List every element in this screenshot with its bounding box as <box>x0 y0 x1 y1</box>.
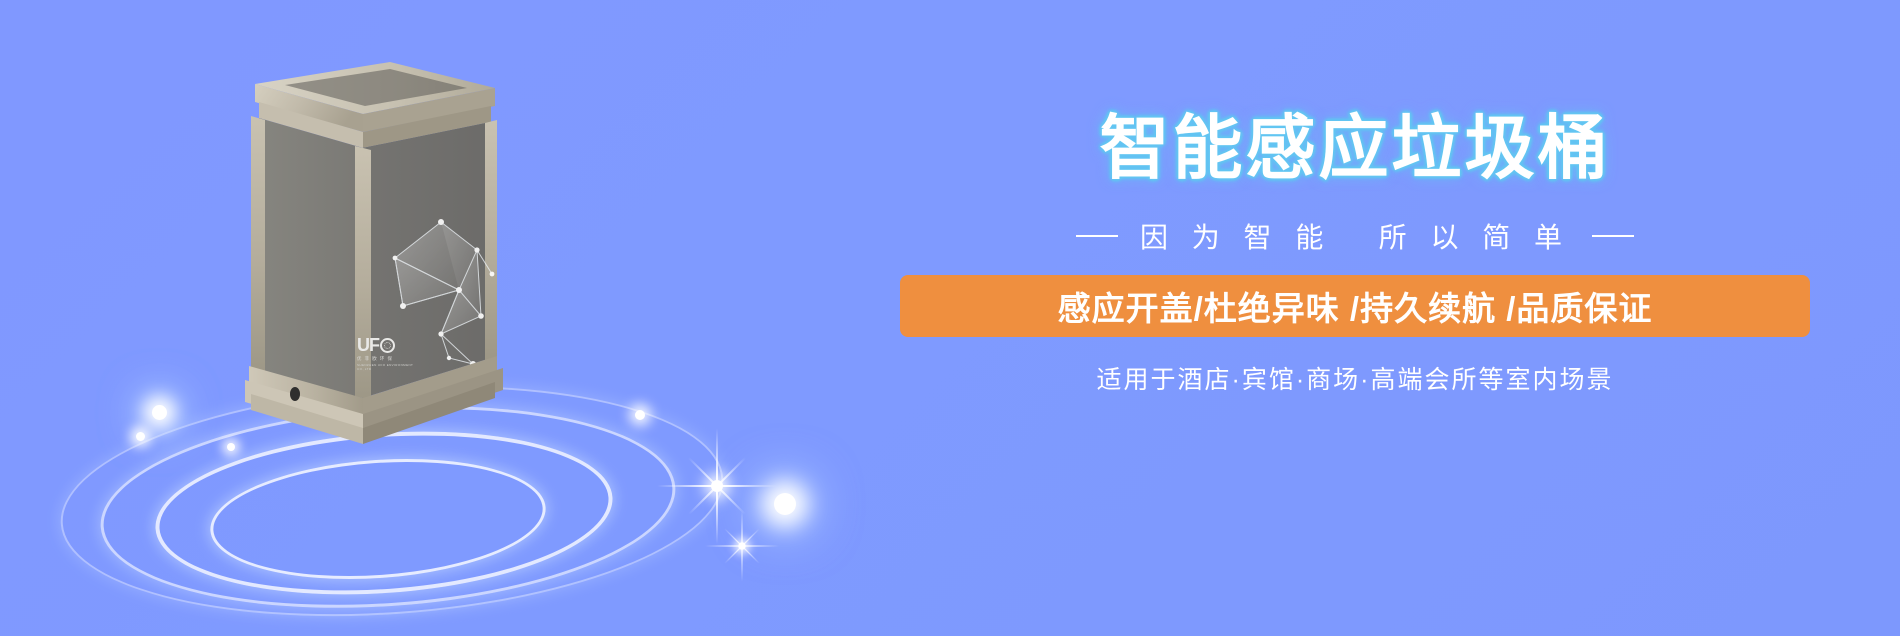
sparkle-star-icon <box>716 485 718 487</box>
headline: 智能感应垃圾桶 <box>880 113 1830 183</box>
glow-dot-icon <box>227 443 235 451</box>
sparkle-star-icon <box>741 545 742 546</box>
trash-bin-illustration: UF 优 菲 欧 环 保 SHENZHEN UFO ENVIRONMENT CO… <box>245 58 505 448</box>
glow-dot-icon <box>152 405 167 420</box>
features-pill: 感应开盖/杜绝异味 /持久续航 /品质保证 <box>900 275 1810 337</box>
glow-dot-icon <box>136 432 145 441</box>
promo-banner: UF 优 菲 欧 环 保 SHENZHEN UFO ENVIRONMENT CO… <box>0 0 1900 636</box>
glow-dot-icon <box>774 493 796 515</box>
subline: 因 为 智 能 所 以 简 单 <box>880 216 1830 256</box>
glow-dot-icon <box>635 410 645 420</box>
usage-scenarios: 适用于酒店·宾馆·商场·高端会所等室内场景 <box>880 360 1830 396</box>
subline-text: 因 为 智 能 所 以 简 单 <box>1140 216 1570 256</box>
subline-right-dash-icon <box>1592 235 1634 237</box>
subline-left-dash-icon <box>1076 235 1118 237</box>
marketing-copy: 智能感应垃圾桶 因 为 智 能 所 以 简 单 感应开盖/杜绝异味 /持久续航 … <box>880 0 1900 636</box>
product-visual: UF 优 菲 欧 环 保 SHENZHEN UFO ENVIRONMENT CO… <box>0 0 900 636</box>
